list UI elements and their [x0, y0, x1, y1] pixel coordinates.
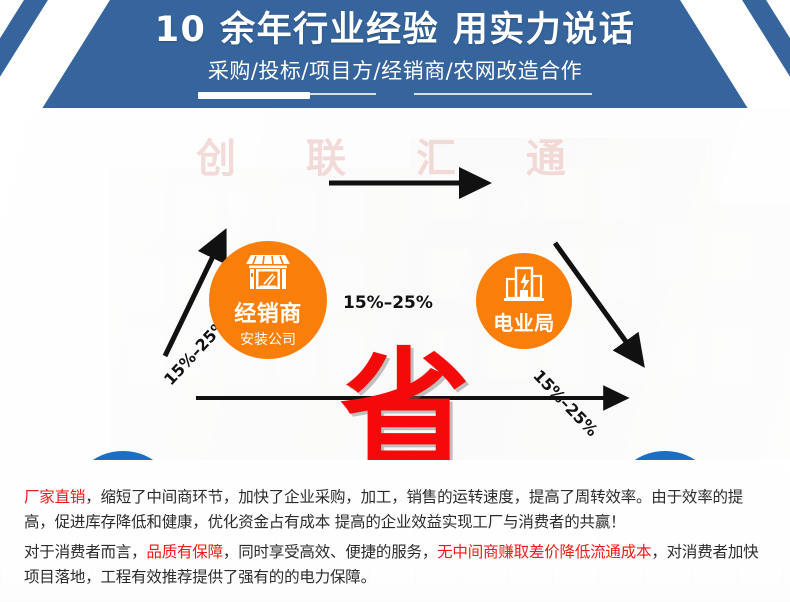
node-dealer-sublabel: 安装公司	[240, 329, 296, 349]
highlight-run: 品质有保障	[146, 543, 223, 561]
description-section: 厂家直销，缩短了中间商环节，加快了企业采购，加工，销售的运转速度，提高了周转效率…	[0, 460, 790, 602]
arrow-label-dealer-to-bureau: 15%–25%	[343, 293, 433, 313]
description-paragraph-1: 厂家直销，缩短了中间商环节，加快了企业采购，加工，销售的运转速度，提高了周转效率…	[24, 485, 772, 535]
banner-divider	[198, 92, 592, 96]
flow-diagram: 创 联 汇 通 15%–25% 15%–25% 15%–25% 在这里省了中间环…	[0, 108, 790, 460]
banner-divider-right	[414, 93, 592, 95]
savings-glyph: 省	[330, 346, 480, 460]
header-banner: 10 余年行业经验 用实力说话 采购/投标/项目方/经销商/农网改造合作	[0, 0, 790, 108]
power-building-icon	[501, 266, 547, 304]
description-paragraph-2: 对于消费者而言，品质有保障，同时享受高效、便捷的服务，无中间商赚取差价降低流通成…	[24, 540, 772, 590]
banner-title: 10 余年行业经验 用实力说话	[0, 7, 790, 53]
text-run: ，缩短了中间商环节，加快了企业采购，加工，销售的运转速度，提高了周转效率。由于效…	[24, 488, 743, 531]
highlight-run: 厂家直销	[24, 488, 85, 506]
node-dealer[interactable]: 经销商 安装公司	[209, 241, 327, 359]
infographic-page: 10 余年行业经验 用实力说话 采购/投标/项目方/经销商/农网改造合作	[0, 0, 790, 602]
node-dealer-label: 经销商	[234, 296, 302, 328]
node-bureau-label: 电业局	[493, 307, 555, 336]
banner-divider-left	[198, 93, 376, 95]
node-bureau[interactable]: 电业局	[476, 253, 572, 349]
storefront-icon	[242, 252, 294, 292]
highlight-run: 无中间商赚取差价降低流通成本	[437, 543, 651, 561]
text-run: ，同时享受高效、便捷的服务，	[223, 543, 437, 561]
text-run: 对于消费者而言，	[24, 543, 146, 561]
banner-subtitle: 采购/投标/项目方/经销商/农网改造合作	[0, 57, 790, 85]
